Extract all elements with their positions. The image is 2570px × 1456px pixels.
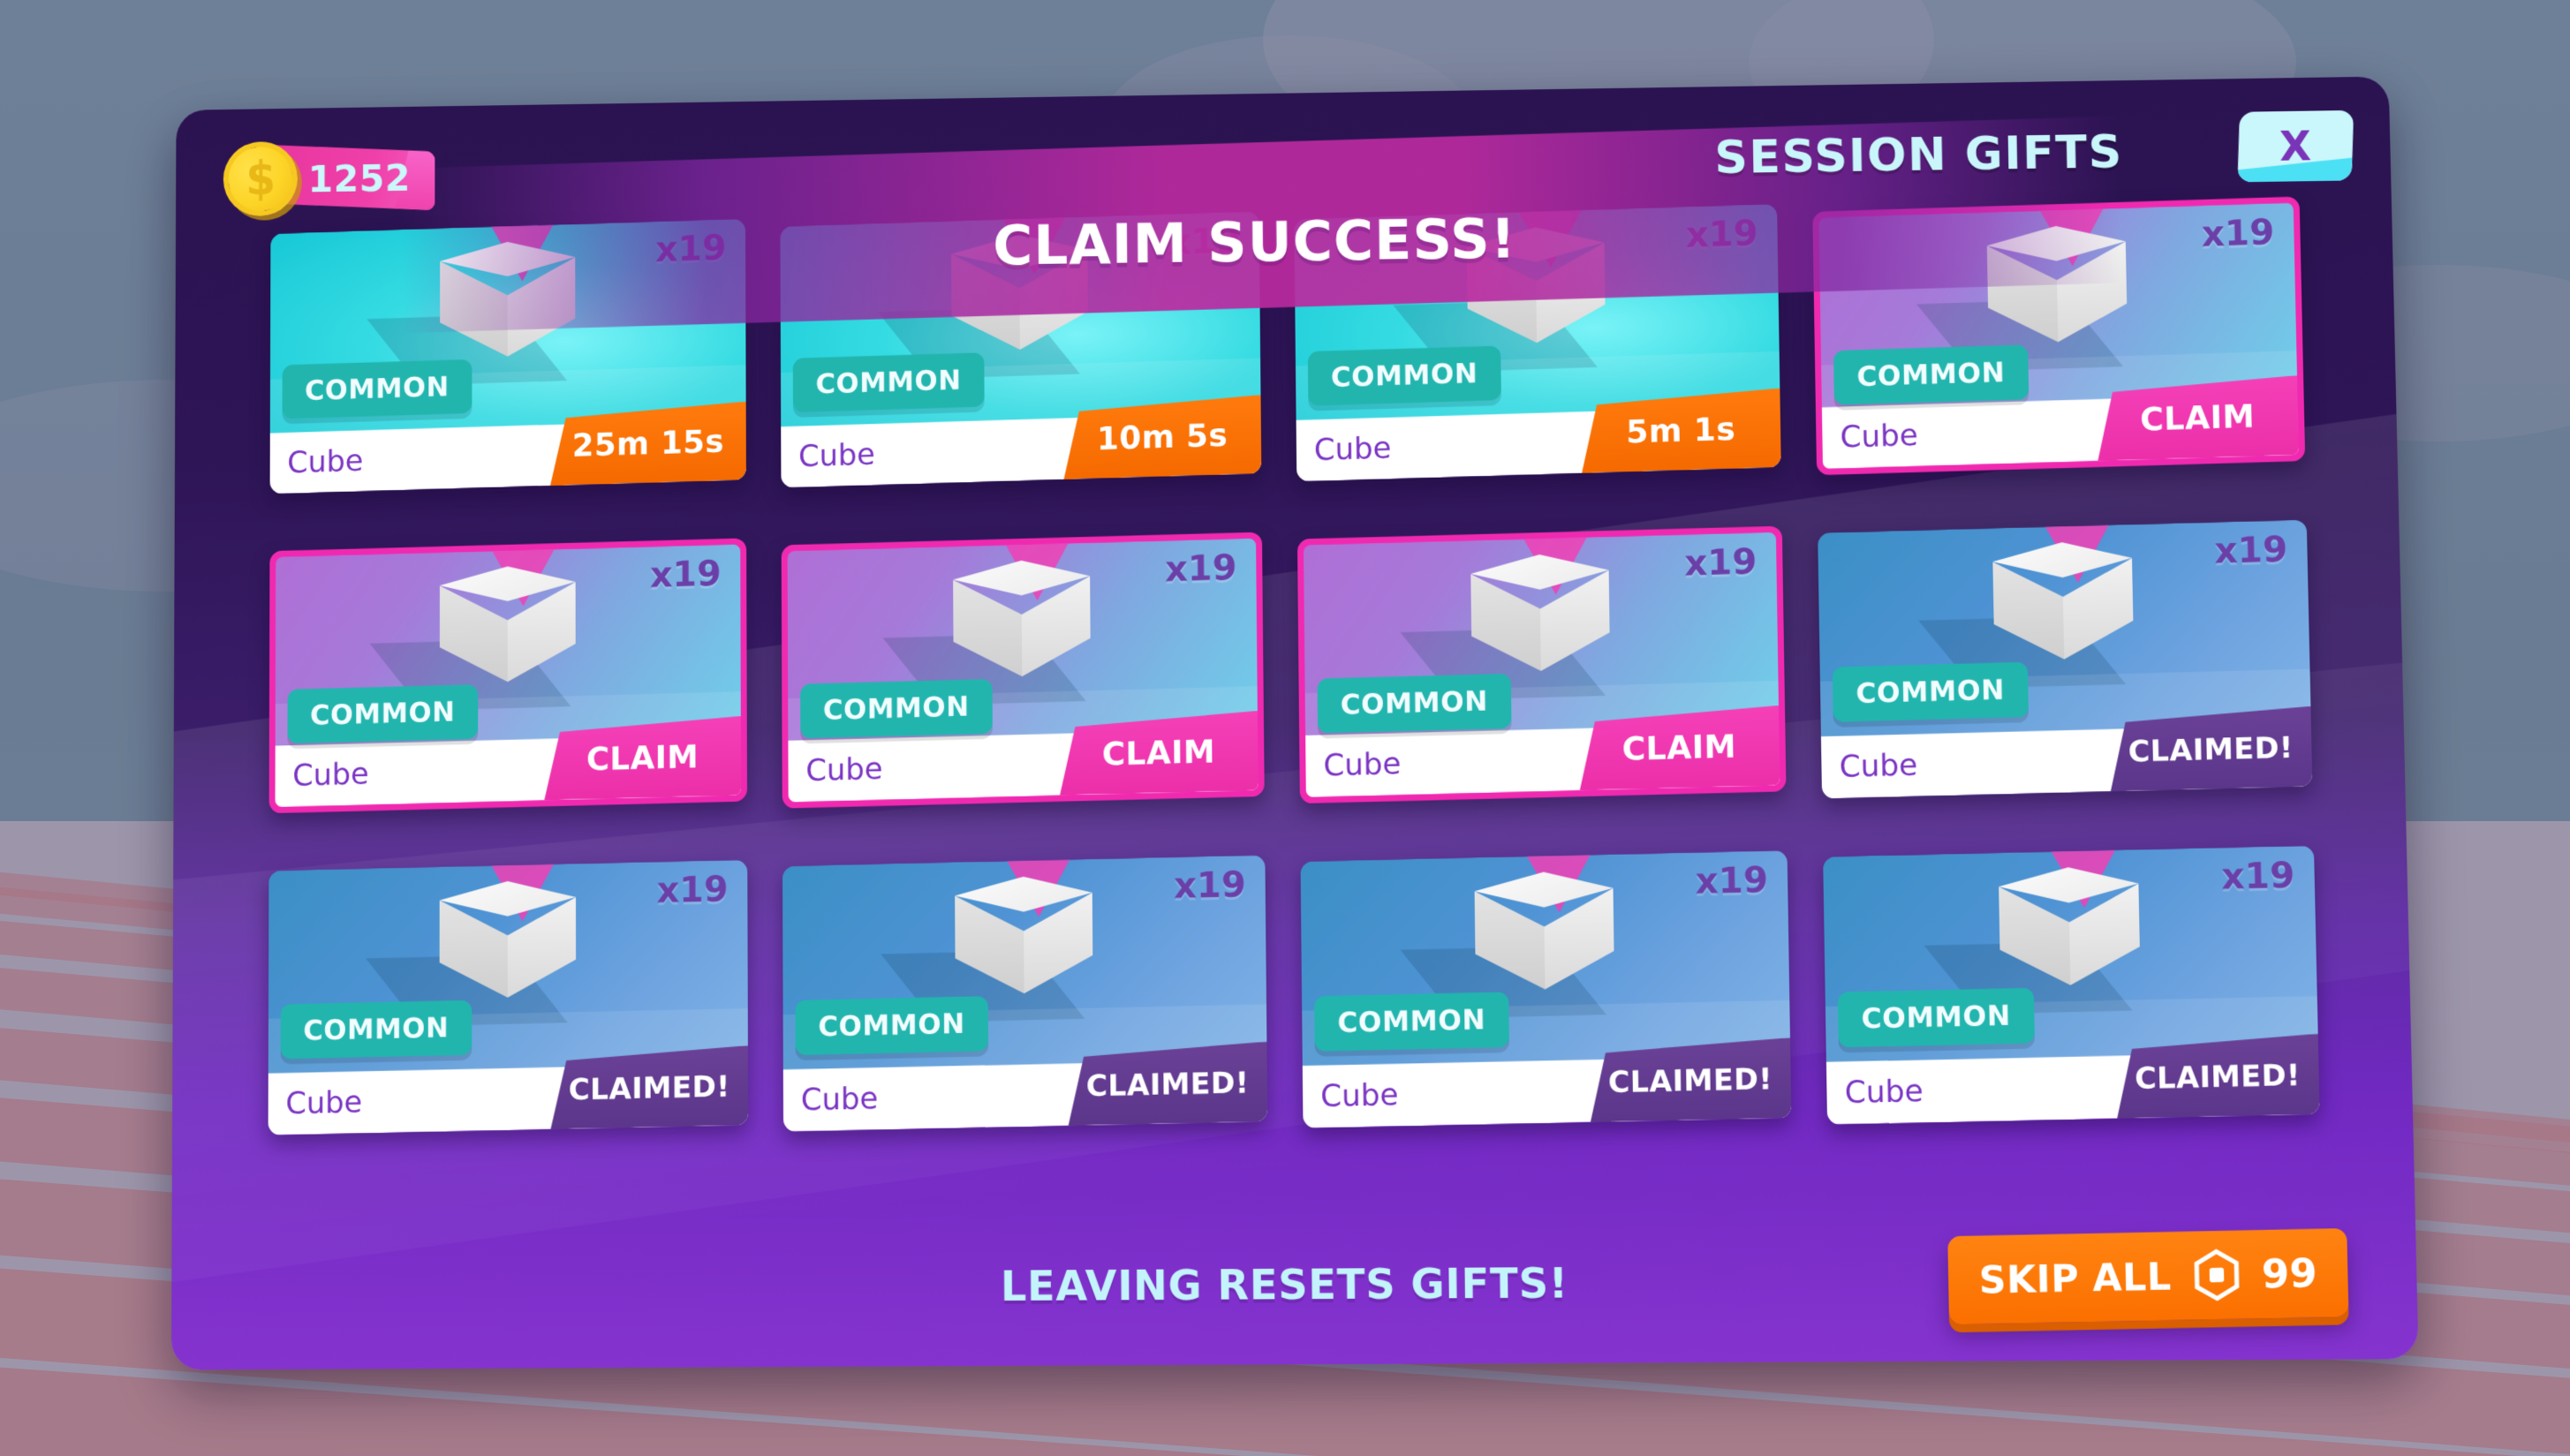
- rarity-label: COMMON: [823, 691, 970, 727]
- rarity-label: COMMON: [305, 371, 450, 406]
- gift-name: Cube: [1303, 1077, 1399, 1115]
- quantity-multiplier: x19: [1695, 860, 1768, 902]
- gift-art: [1304, 532, 1780, 750]
- rarity-label: COMMON: [310, 697, 455, 732]
- art-floor-line: [1302, 1000, 1790, 1068]
- rarity-label: COMMON: [1856, 674, 2005, 710]
- gift-action-label: 10m 5s: [1097, 418, 1228, 457]
- gift-action-label: CLAIM: [2140, 398, 2256, 438]
- rarity-badge: COMMON: [1317, 674, 1511, 734]
- gift-card-inner: x19COMMONCubeCLAIM: [1818, 203, 2299, 469]
- quantity-multiplier: x19: [655, 228, 726, 270]
- gift-card-footer: Cube: [1305, 723, 1780, 797]
- gift-card-inner: x19COMMONCubeCLAIM: [788, 539, 1259, 803]
- gift-card[interactable]: x19COMMONCubeCLAIMED!: [268, 860, 749, 1135]
- gift-card-footer: Cube: [1303, 1055, 1792, 1128]
- gift-action-label: CLAIMED!: [2128, 729, 2294, 768]
- close-button[interactable]: X: [2237, 110, 2354, 182]
- accent-wedge: [2032, 520, 2123, 585]
- gift-card-inner: x19COMMONCubeCLAIMED!: [1818, 520, 2312, 799]
- cube-icon: [951, 232, 1088, 367]
- session-gifts-dialog: $ 1252 SESSION GIFTS X CLAIM SUCCESS! x1…: [171, 76, 2419, 1369]
- gift-card[interactable]: x19COMMONCube5m 1s: [1294, 204, 1780, 481]
- gift-action-label: CLAIMED!: [569, 1068, 730, 1106]
- quantity-multiplier: x19: [1165, 547, 1237, 590]
- gift-card-footer: Cube: [1822, 393, 2299, 469]
- rarity-badge: COMMON: [1833, 662, 2029, 722]
- cube-icon: [1999, 865, 2141, 1002]
- rarity-badge: COMMON: [281, 1000, 472, 1060]
- gift-name: Cube: [1822, 418, 1918, 456]
- gift-card-footer: Cube: [783, 1060, 1267, 1132]
- art-floor-line: [1305, 681, 1780, 750]
- cube-icon: [1467, 225, 1606, 361]
- gift-card-inner: x19COMMONCubeCLAIMED!: [782, 855, 1267, 1131]
- cube-icon: [953, 559, 1091, 694]
- rarity-label: COMMON: [816, 365, 962, 401]
- rarity-badge: COMMON: [800, 679, 993, 738]
- gift-card-footer: Cube: [1821, 724, 2313, 799]
- cube-icon: [440, 240, 575, 374]
- cube-shadow: [1401, 947, 1606, 1018]
- accent-wedge: [2038, 846, 2129, 909]
- rarity-label: COMMON: [1856, 357, 2005, 393]
- cube-icon: [1470, 553, 1610, 689]
- gift-card-inner: x19COMMONCubeCLAIMED!: [268, 860, 749, 1135]
- close-icon: X: [2279, 123, 2312, 170]
- quantity-multiplier: x19: [1168, 221, 1240, 263]
- gift-art: [782, 855, 1267, 1071]
- gift-action-claimed: CLAIMED!: [1590, 1037, 1792, 1122]
- gift-art: [1818, 203, 2297, 422]
- cube-icon: [440, 564, 576, 699]
- quantity-multiplier: x19: [1174, 864, 1246, 907]
- gift-name: Cube: [1296, 431, 1392, 469]
- game-scene: $ 1252 SESSION GIFTS X CLAIM SUCCESS! x1…: [0, 0, 2570, 1456]
- rarity-label: COMMON: [1861, 1000, 2011, 1035]
- gift-card[interactable]: x19COMMONCube10m 5s: [780, 211, 1261, 487]
- gift-name: Cube: [1305, 746, 1401, 784]
- gift-action-label: CLAIM: [1102, 734, 1216, 773]
- cube-icon: [1992, 540, 2135, 677]
- rarity-badge: COMMON: [1308, 345, 1501, 405]
- gift-card-inner: x19COMMONCubeCLAIMED!: [1823, 846, 2320, 1125]
- gift-name: Cube: [268, 1084, 363, 1121]
- rarity-label: COMMON: [303, 1012, 449, 1047]
- rarity-badge: COMMON: [1838, 988, 2035, 1048]
- cube-shadow: [1919, 616, 2127, 688]
- rarity-badge: COMMON: [793, 352, 985, 412]
- page-title: SESSION GIFTS: [1714, 126, 2123, 185]
- cube-shadow: [1916, 299, 2123, 371]
- accent-wedge: [1514, 850, 1604, 913]
- rarity-label: COMMON: [1341, 686, 1488, 721]
- rarity-label: COMMON: [1337, 1004, 1485, 1039]
- gift-name: Cube: [781, 437, 875, 475]
- gift-card[interactable]: x19COMMONCubeCLAIM: [269, 538, 747, 813]
- gift-card[interactable]: x19COMMONCubeCLAIMED!: [1818, 520, 2312, 799]
- gift-art: [1301, 850, 1791, 1067]
- currency-badge[interactable]: $ 1252: [223, 140, 435, 217]
- cube-icon: [440, 879, 577, 1015]
- quantity-multiplier: x19: [650, 554, 722, 596]
- cube-icon: [955, 875, 1093, 1011]
- gift-card-grid: x19COMMONCube25m 15sx19COMMONCube10m 5sx…: [268, 200, 2318, 1167]
- skip-all-label: SKIP ALL: [1978, 1254, 2172, 1301]
- gift-card[interactable]: x19COMMONCube25m 15s: [270, 219, 746, 494]
- cube-shadow: [1924, 942, 2133, 1014]
- skip-all-button[interactable]: SKIP ALL 99: [1947, 1228, 2348, 1324]
- gift-card-inner: x19COMMONCube5m 1s: [1294, 204, 1780, 481]
- gift-name: Cube: [783, 1081, 879, 1118]
- gift-card-footer: Cube: [1826, 1052, 2320, 1125]
- accent-wedge: [1511, 532, 1600, 596]
- rarity-badge: COMMON: [1833, 344, 2029, 404]
- gift-action-claim[interactable]: CLAIM: [2097, 375, 2299, 461]
- cube-icon: [1986, 224, 2128, 360]
- gift-action-claimed: CLAIMED!: [1068, 1042, 1267, 1126]
- gift-name: Cube: [788, 751, 882, 789]
- gift-card-inner: x19COMMONCubeCLAIM: [1304, 532, 1780, 797]
- gift-card[interactable]: x19COMMONCubeCLAIM: [1812, 196, 2305, 475]
- gift-card[interactable]: x19COMMONCubeCLAIMED!: [1823, 846, 2320, 1125]
- quantity-multiplier: x19: [2201, 212, 2274, 254]
- art-floor-line: [1825, 996, 2318, 1064]
- coin-amount: 1252: [308, 156, 411, 200]
- gift-action-label: 5m 1s: [1626, 411, 1735, 450]
- skip-all-cost: 99: [2261, 1250, 2317, 1297]
- gift-action-label: CLAIMED!: [2135, 1057, 2302, 1096]
- gift-name: Cube: [276, 757, 369, 794]
- gift-action-claimed: CLAIMED!: [2109, 706, 2312, 792]
- rarity-badge: COMMON: [1314, 992, 1509, 1051]
- rarity-label: COMMON: [818, 1008, 964, 1044]
- quantity-multiplier: x19: [2214, 529, 2288, 571]
- gift-action-label: 25m 15s: [572, 424, 724, 464]
- cube-shadow: [1400, 629, 1605, 700]
- cube-shadow: [881, 951, 1085, 1022]
- quantity-multiplier: x19: [1686, 214, 1758, 256]
- cube-icon: [1474, 871, 1614, 1007]
- gift-action-label: CLAIMED!: [1608, 1060, 1773, 1098]
- gift-card[interactable]: x19COMMONCubeCLAIMED!: [1301, 850, 1792, 1128]
- quantity-multiplier: x19: [1684, 541, 1757, 584]
- gift-action-label: CLAIM: [586, 739, 699, 778]
- art-floor-line: [1820, 668, 2311, 738]
- gift-art: [1818, 520, 2311, 739]
- leaving-notice: LEAVING RESETS GIFTS!: [171, 1254, 2417, 1315]
- gift-action-label: CLAIMED!: [1086, 1065, 1250, 1103]
- robux-icon: [2193, 1249, 2241, 1301]
- gift-art: [1823, 846, 2318, 1064]
- gift-card[interactable]: x19COMMONCubeCLAIM: [782, 532, 1265, 808]
- gift-card-inner: x19COMMONCubeCLAIMED!: [1301, 850, 1792, 1128]
- gift-action-claim[interactable]: CLAIM: [1579, 705, 1780, 790]
- rarity-badge: COMMON: [287, 684, 477, 743]
- accent-wedge: [2027, 203, 2117, 268]
- rarity-badge: COMMON: [283, 359, 472, 419]
- gift-card-inner: x19COMMONCube10m 5s: [780, 211, 1261, 487]
- rarity-badge: COMMON: [795, 996, 987, 1055]
- gift-name: Cube: [270, 443, 364, 481]
- gift-action-label: CLAIM: [1621, 728, 1736, 767]
- quantity-multiplier: x19: [2221, 855, 2295, 897]
- art-floor-line: [1821, 351, 2298, 421]
- rarity-label: COMMON: [1331, 358, 1478, 394]
- gift-card[interactable]: x19COMMONCubeCLAIMED!: [782, 855, 1267, 1131]
- gift-card[interactable]: x19COMMONCubeCLAIM: [1297, 526, 1787, 804]
- gift-name: Cube: [1826, 1074, 1924, 1112]
- gift-card-inner: x19COMMONCubeCLAIM: [276, 544, 742, 807]
- gift-action-claimed: CLAIMED!: [2115, 1034, 2319, 1119]
- gift-name: Cube: [1821, 747, 1918, 785]
- gift-card-inner: x19COMMONCube25m 15s: [270, 219, 746, 494]
- quantity-multiplier: x19: [657, 869, 729, 911]
